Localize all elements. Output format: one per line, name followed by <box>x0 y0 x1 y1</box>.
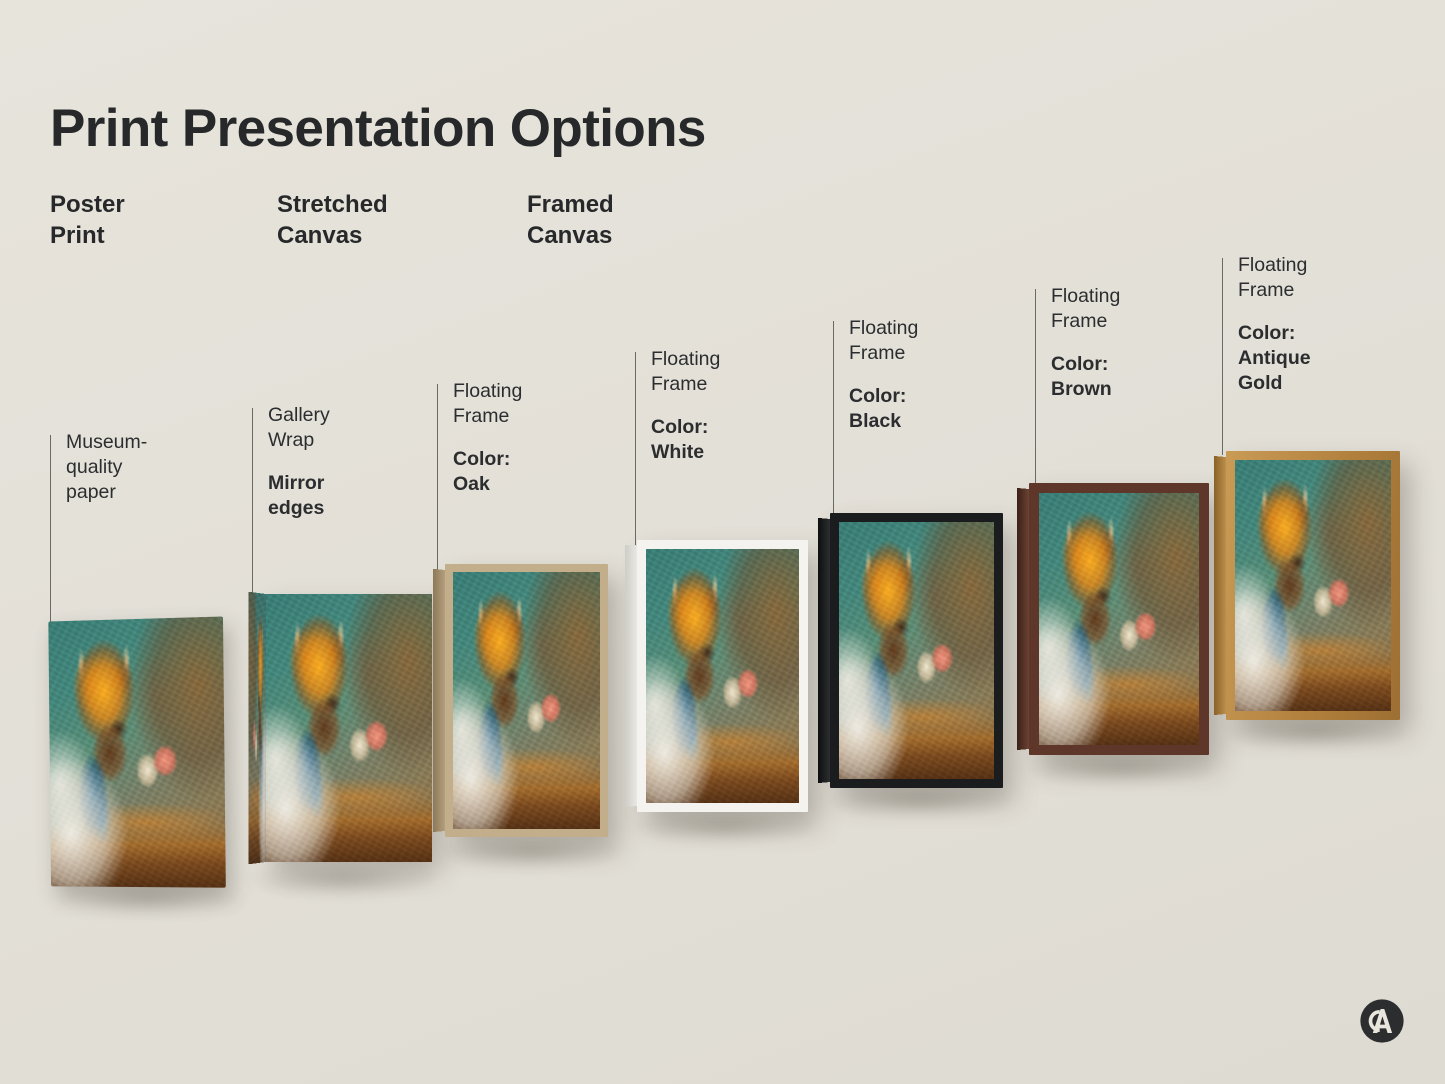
artwork-stretched-canvas[interactable] <box>266 594 432 862</box>
frame-side-antique-gold <box>1214 456 1226 715</box>
frame-side-white <box>625 545 637 807</box>
callout-detail-label: Color: Brown <box>1051 352 1216 402</box>
framed-white-shadow <box>632 810 817 842</box>
leader-line <box>1222 258 1223 455</box>
callout-detail-label: Color: Oak <box>453 447 618 497</box>
page-title: Print Presentation Options <box>50 98 706 159</box>
leader-line <box>1035 289 1036 484</box>
frame-side-brown <box>1017 488 1029 750</box>
callout-detail-label: Color: White <box>651 415 816 465</box>
artwork-framed-antique-gold[interactable] <box>1226 451 1400 720</box>
framed-oak-shadow <box>438 836 623 868</box>
leader-line <box>833 321 834 517</box>
callout-type-label: Floating Frame <box>849 316 1014 366</box>
callout-type-label: Floating Frame <box>1051 284 1216 334</box>
callout-type-label: Museum- quality paper <box>66 430 231 505</box>
artwork-framed-brown[interactable] <box>1029 483 1209 755</box>
artwork-poster-print[interactable] <box>48 616 225 887</box>
leader-line <box>437 384 438 570</box>
callout-type-label: Floating Frame <box>453 379 618 429</box>
callout-type-label: Floating Frame <box>651 347 816 397</box>
callout-detail-label: Mirror edges <box>268 471 433 521</box>
print-presentation-board: Print Presentation Options Poster Print … <box>0 0 1445 1084</box>
leader-line <box>635 352 636 545</box>
leader-line <box>252 408 253 606</box>
category-heading-framed-canvas: Framed Canvas <box>527 190 614 251</box>
bison-scientist-painting <box>1039 493 1199 745</box>
artwork-framed-white[interactable] <box>637 540 808 812</box>
callout-type-label: Floating Frame <box>1238 253 1403 303</box>
artwork-framed-black[interactable] <box>830 513 1003 788</box>
bison-scientist-painting <box>48 616 225 887</box>
leader-line <box>50 435 51 625</box>
category-heading-stretched-canvas: Stretched Canvas <box>277 190 388 251</box>
bison-scientist-painting <box>839 522 994 779</box>
category-heading-poster-print: Poster Print <box>50 190 125 251</box>
bison-scientist-painting <box>266 594 432 862</box>
stretched-canvas-shadow <box>248 862 438 896</box>
callout-detail-label: Color: Black <box>849 384 1014 434</box>
callout-detail-label: Color: Antique Gold <box>1238 321 1403 396</box>
canvas-mirror-edge <box>248 592 266 865</box>
bison-scientist-painting <box>646 549 799 803</box>
framed-brown-shadow <box>1026 752 1216 784</box>
frame-side-oak <box>433 569 445 832</box>
bison-scientist-painting <box>453 572 600 829</box>
frame-side-black <box>818 518 830 783</box>
framed-antique-gold-shadow <box>1222 716 1408 748</box>
bison-scientist-painting <box>1235 460 1391 711</box>
brand-logo[interactable] <box>1359 998 1405 1044</box>
artwork-framed-oak[interactable] <box>445 564 608 837</box>
callout-type-label: Gallery Wrap <box>268 403 433 453</box>
framed-black-shadow <box>826 784 1014 816</box>
